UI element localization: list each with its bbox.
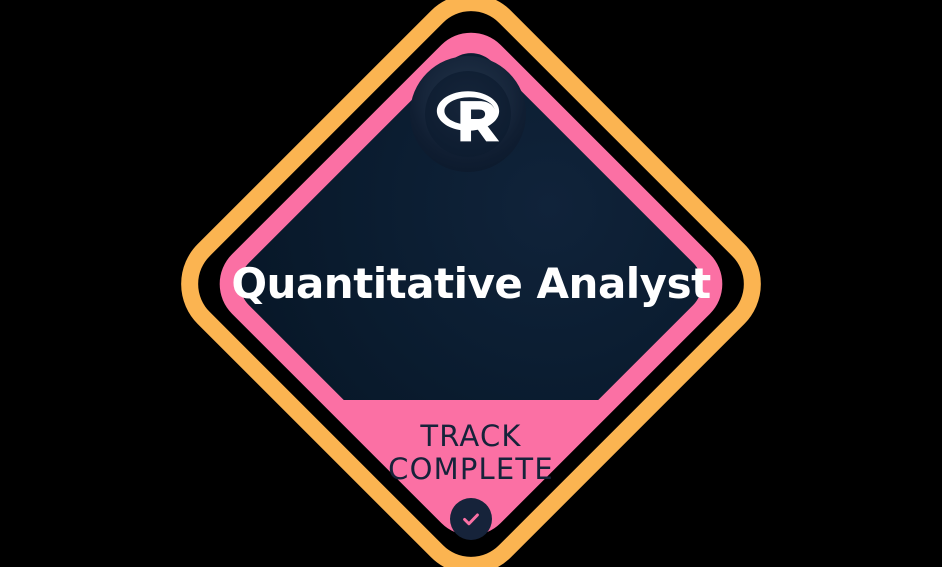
badge-shape-graphic [0,0,942,567]
badge-root: Quantitative Analyst TRACK COMPLETE [0,0,942,567]
